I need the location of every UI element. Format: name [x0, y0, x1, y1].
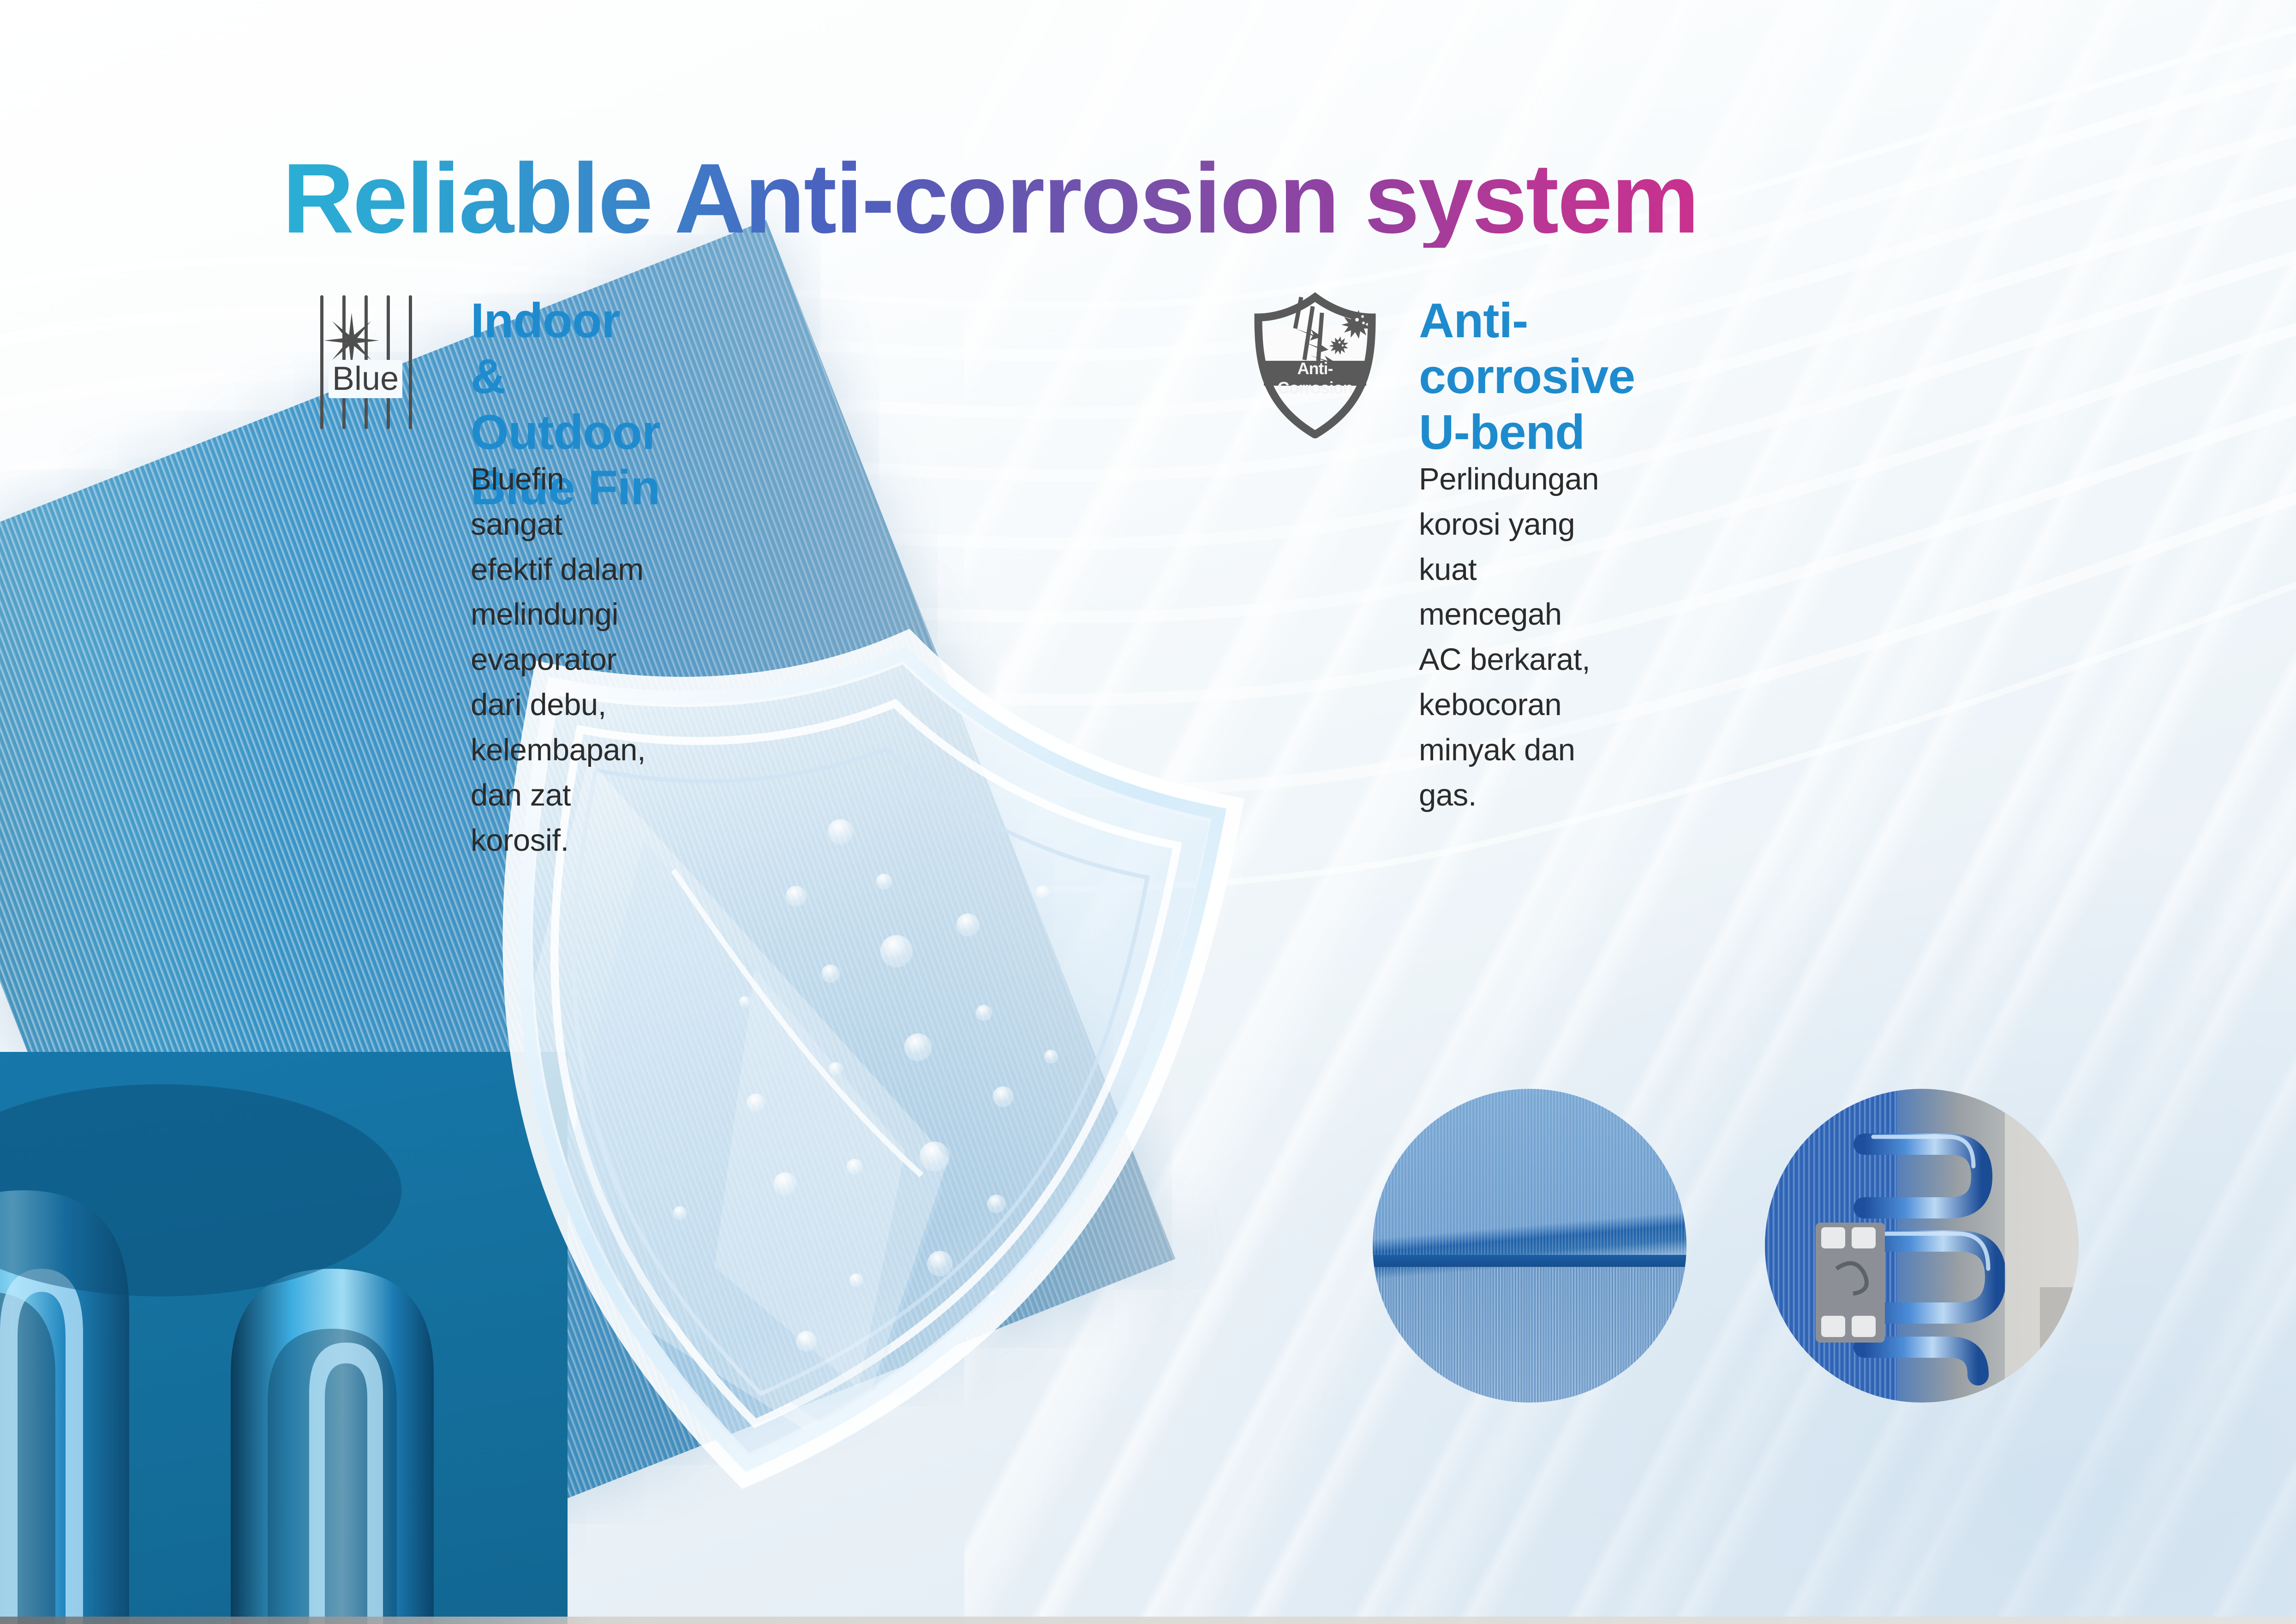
ubend-tubes-svg	[1765, 1089, 2079, 1403]
fin-slat	[320, 295, 323, 429]
page-title: Reliable Anti-corrosion system	[282, 149, 1698, 248]
inset-u-bend-closeup	[1765, 1089, 2079, 1403]
bottom-edge-strip	[0, 1617, 2296, 1624]
anti-corrosion-shield-icon: Anti-Corrosion	[1253, 291, 1377, 438]
fin-closeup-image	[1373, 1089, 1686, 1403]
blue-fin-icon: Blue	[318, 295, 434, 429]
feature-heading: Anti-corrosive U-bend	[1419, 293, 1635, 460]
fin-slat	[409, 295, 412, 429]
ubend-closeup-image	[1765, 1089, 2079, 1403]
anti-corrosion-label: Anti-Corrosion	[1263, 359, 1367, 398]
slide-root: Reliable Anti-corrosion system	[0, 0, 2296, 1624]
inset-blue-fin-closeup	[1373, 1089, 1686, 1403]
feature-description: Bluefin sangat efektif dalam melindungi …	[471, 457, 646, 863]
blue-fin-icon-label: Blue	[329, 360, 402, 398]
feature-description: Perlindungan korosi yang kuat mencegah A…	[1419, 457, 1599, 818]
fin-texture-lower	[1373, 1258, 1686, 1403]
corner-tint-glow	[1102, 812, 2296, 1624]
